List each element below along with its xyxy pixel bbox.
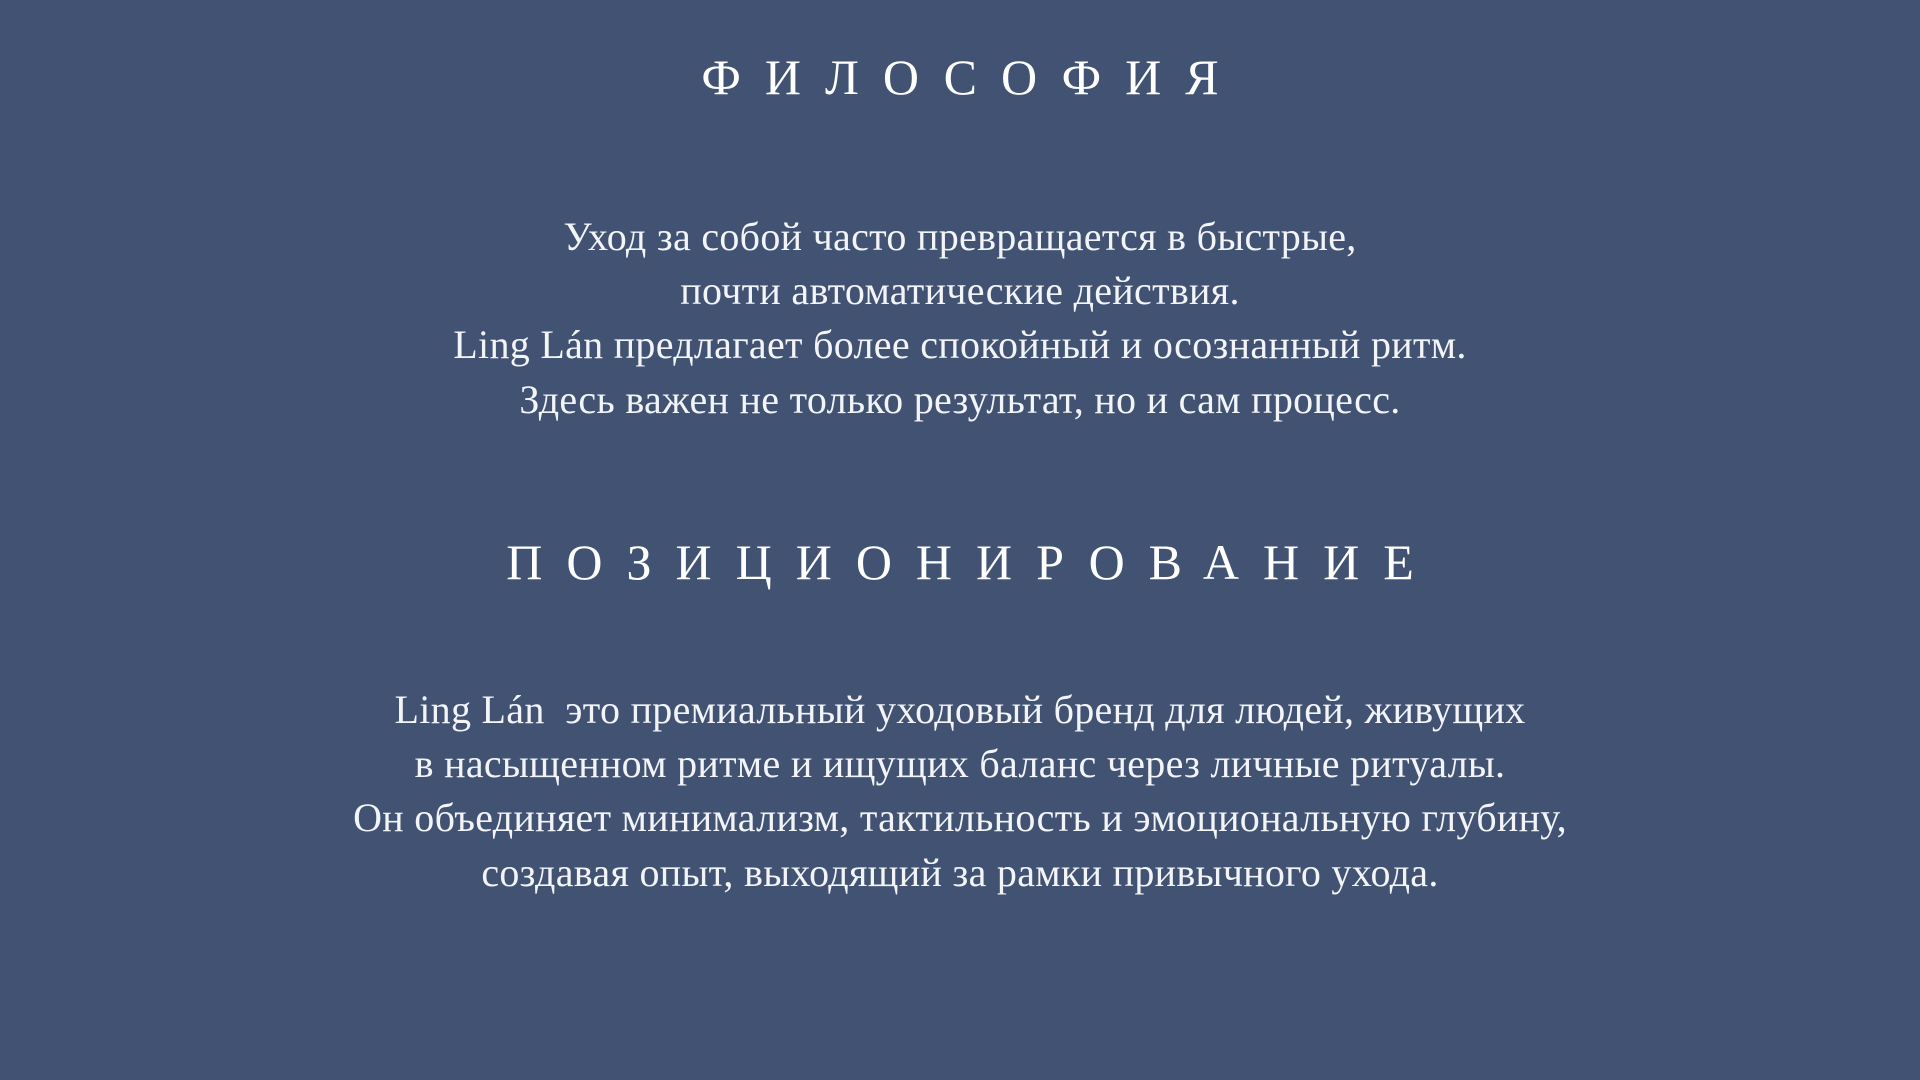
- body-text-positioning: Ling Lán это премиальный уходовый бренд …: [353, 683, 1567, 901]
- body-line: Здесь важен не только результат, но и са…: [453, 373, 1466, 427]
- slide-canvas: ФИЛОСОФИЯ Уход за собой часто превращает…: [0, 0, 1920, 1080]
- section-heading-positioning: ПОЗИЦИОНИРОВАНИЕ: [482, 537, 1438, 587]
- body-text-philosophy: Уход за собой часто превращается в быстр…: [453, 210, 1466, 428]
- body-line: Уход за собой часто превращается в быстр…: [453, 210, 1466, 264]
- body-line: Ling Lán предлагает более спокойный и ос…: [453, 318, 1466, 372]
- body-line: Он объединяет минимализм, тактильность и…: [353, 791, 1567, 845]
- body-line: создавая опыт, выходящий за рамки привыч…: [353, 846, 1567, 900]
- body-line: Ling Lán это премиальный уходовый бренд …: [353, 683, 1567, 737]
- body-line: почти автоматические действия.: [453, 264, 1466, 318]
- section-heading-philosophy: ФИЛОСОФИЯ: [677, 52, 1242, 102]
- body-line: в насыщенном ритме и ищущих баланс через…: [353, 737, 1567, 791]
